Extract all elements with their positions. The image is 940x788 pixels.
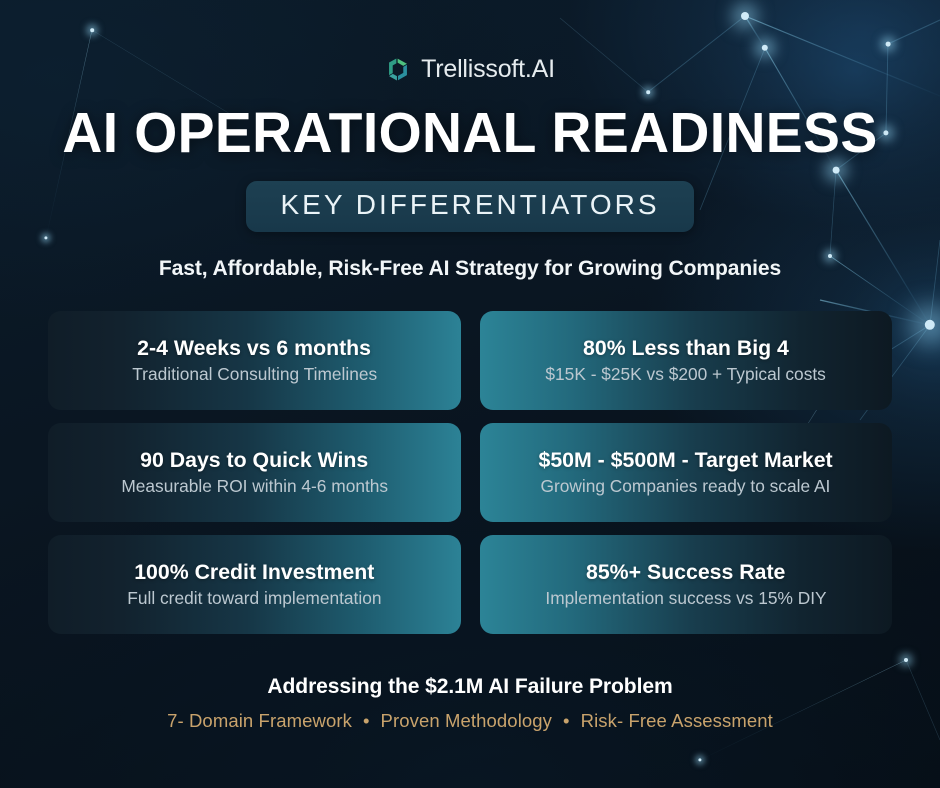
card-subtitle: Traditional Consulting Timelines	[132, 364, 377, 385]
page-title: AI OPERATIONAL READINESS	[14, 103, 926, 165]
network-node	[904, 658, 908, 662]
network-node	[44, 236, 47, 239]
differentiator-card: 90 Days to Quick Wins Measurable ROI wit…	[48, 423, 461, 522]
key-differentiators-badge: KEY DIFFERENTIATORS	[246, 181, 693, 232]
page-subtitle: Fast, Affordable, Risk-Free AI Strategy …	[9, 256, 930, 281]
network-node	[762, 45, 768, 51]
network-node	[833, 167, 840, 174]
differentiator-card: 80% Less than Big 4 $15K - $25K vs $200 …	[480, 311, 893, 410]
card-subtitle: Full credit toward implementation	[127, 588, 381, 609]
card-subtitle: Implementation success vs 15% DIY	[545, 588, 826, 609]
footer-tag-item: Risk- Free Assessment	[581, 710, 773, 732]
differentiator-card: 100% Credit Investment Full credit towar…	[48, 535, 461, 634]
card-subtitle: Measurable ROI within 4-6 months	[121, 476, 388, 497]
network-node	[925, 320, 935, 330]
network-node	[741, 12, 749, 20]
footer-separator-icon: •	[552, 710, 581, 732]
footer-tag-item: 7- Domain Framework	[167, 710, 352, 732]
footer-separator-icon: •	[352, 710, 381, 732]
card-title: 100% Credit Investment	[134, 560, 374, 585]
card-title: 90 Days to Quick Wins	[140, 448, 368, 473]
footer-tagline: 7- Domain Framework • Proven Methodology…	[0, 710, 940, 732]
differentiator-card: $50M - $500M - Target Market Growing Com…	[480, 423, 893, 522]
differentiator-card: 2-4 Weeks vs 6 months Traditional Consul…	[48, 311, 461, 410]
brand-logo: Trellissoft.AI	[0, 56, 940, 82]
footer-headline: Addressing the $2.1M AI Failure Problem	[9, 674, 930, 699]
network-node	[698, 758, 701, 761]
differentiator-card: 85%+ Success Rate Implementation success…	[480, 535, 893, 634]
badge-row: KEY DIFFERENTIATORS	[0, 181, 940, 232]
card-subtitle: $15K - $25K vs $200 + Typical costs	[546, 364, 826, 385]
card-title: 80% Less than Big 4	[583, 336, 789, 361]
footer-tag-item: Proven Methodology	[381, 710, 553, 732]
network-node	[646, 90, 650, 94]
trellissoft-logo-mark	[385, 56, 411, 82]
network-node	[90, 28, 94, 32]
differentiator-grid: 2-4 Weeks vs 6 months Traditional Consul…	[48, 311, 892, 634]
card-title: $50M - $500M - Target Market	[539, 448, 833, 473]
card-title: 2-4 Weeks vs 6 months	[137, 336, 371, 361]
brand-name: Trellissoft.AI	[421, 57, 555, 82]
network-node	[886, 42, 891, 47]
card-subtitle: Growing Companies ready to scale AI	[541, 476, 831, 497]
card-title: 85%+ Success Rate	[586, 560, 785, 585]
infographic-poster: Trellissoft.AI AI OPERATIONAL READINESS …	[0, 0, 940, 788]
